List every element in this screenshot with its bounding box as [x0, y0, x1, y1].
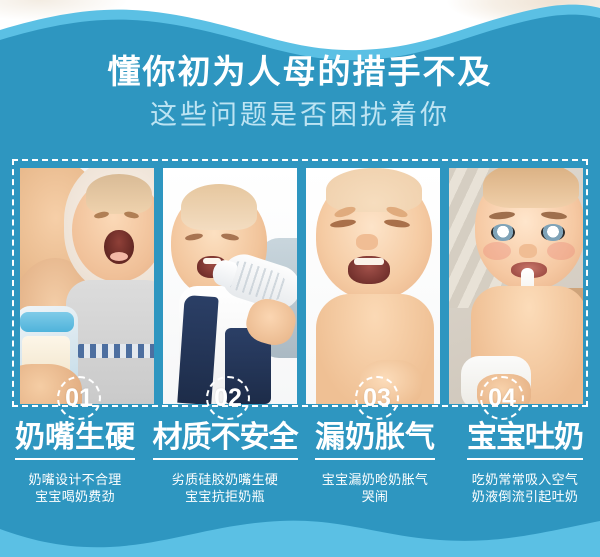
caption-column-1: 奶嘴生硬 奶嘴设计不合理 宝宝喝奶费劲: [0, 420, 150, 505]
number-badge-1: 01: [57, 376, 101, 420]
photo-panel-2: [163, 168, 297, 404]
number-badge-4: 04: [480, 376, 524, 420]
caption-line-2b: 宝宝抗拒奶瓶: [150, 488, 300, 505]
promo-poster: 懂你初为人母的措手不及 这些问题是否困扰着你: [0, 0, 600, 557]
number-badge-2: 02: [206, 376, 250, 420]
caption-line-3a: 宝宝漏奶呛奶胀气: [300, 471, 450, 488]
caption-column-4: 宝宝吐奶 吃奶常常吸入空气 奶液倒流引起吐奶: [450, 420, 600, 505]
caption-line-1a: 奶嘴设计不合理: [0, 471, 150, 488]
caption-body-3: 宝宝漏奶呛奶胀气 哭闹: [300, 471, 450, 505]
header: 懂你初为人母的措手不及 这些问题是否困扰着你: [0, 52, 600, 132]
page-subtitle: 这些问题是否困扰着你: [0, 98, 600, 132]
photo-panel-3: [306, 168, 440, 404]
photo-panel-1: [20, 168, 154, 404]
photo-panel-4: [449, 168, 583, 404]
caption-line-1b: 宝宝喝奶费劲: [0, 488, 150, 505]
caption-row: 奶嘴生硬 奶嘴设计不合理 宝宝喝奶费劲 材质不安全 劣质硅胶奶嘴生硬 宝宝抗拒奶…: [0, 420, 600, 505]
caption-column-2: 材质不安全 劣质硅胶奶嘴生硬 宝宝抗拒奶瓶: [150, 420, 300, 505]
caption-body-1: 奶嘴设计不合理 宝宝喝奶费劲: [0, 471, 150, 505]
caption-title-1: 奶嘴生硬: [15, 420, 135, 460]
caption-title-4: 宝宝吐奶: [467, 420, 583, 460]
badge-number-3: 03: [363, 386, 391, 411]
caption-body-4: 吃奶常常吸入空气 奶液倒流引起吐奶: [450, 471, 600, 505]
caption-column-3: 漏奶胀气 宝宝漏奶呛奶胀气 哭闹: [300, 420, 450, 505]
caption-line-2a: 劣质硅胶奶嘴生硬: [150, 471, 300, 488]
number-badge-3: 03: [355, 376, 399, 420]
badge-number-4: 04: [488, 386, 516, 411]
caption-line-4b: 奶液倒流引起吐奶: [450, 488, 600, 505]
caption-line-3b: 哭闹: [300, 488, 450, 505]
caption-title-3: 漏奶胀气: [315, 420, 435, 460]
badge-number-1: 01: [65, 386, 93, 411]
caption-title-2: 材质不安全: [153, 420, 298, 460]
caption-body-2: 劣质硅胶奶嘴生硬 宝宝抗拒奶瓶: [150, 471, 300, 505]
caption-line-4a: 吃奶常常吸入空气: [450, 471, 600, 488]
badge-number-2: 02: [214, 386, 242, 411]
photo-strip: [20, 168, 580, 404]
page-title: 懂你初为人母的措手不及: [0, 52, 600, 92]
